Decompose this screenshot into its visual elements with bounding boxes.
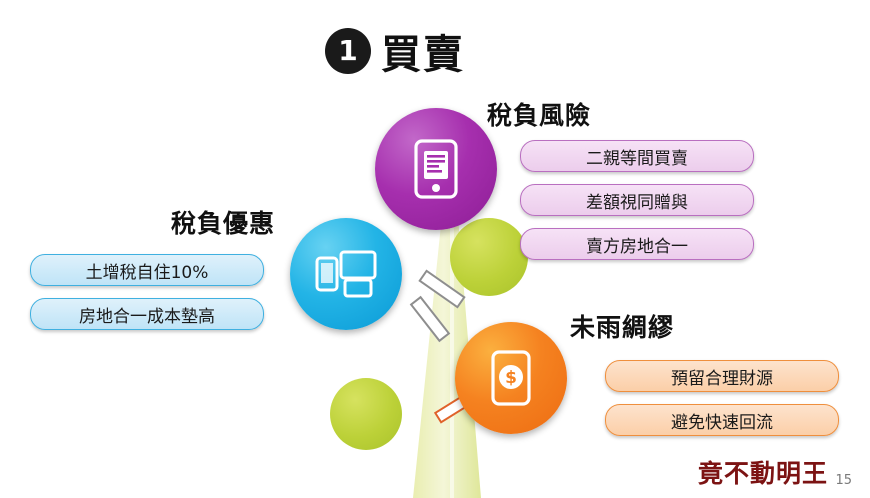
pill-risk-2[interactable]: 差額視同贈與 <box>520 184 754 216</box>
node-benefit[interactable] <box>290 218 402 330</box>
node-risk[interactable] <box>375 108 497 230</box>
pill-risk-3[interactable]: 賣方房地合一 <box>520 228 754 260</box>
svg-text:$: $ <box>505 368 517 388</box>
node-plan[interactable]: $ <box>455 322 567 434</box>
slide-title-block: 1 買賣 <box>325 22 465 80</box>
pill-risk-1[interactable]: 二親等間買賣 <box>520 140 754 172</box>
pill-plan-2[interactable]: 避免快速回流 <box>605 404 839 436</box>
pill-benefit-1[interactable]: 土增稅自住10% <box>30 254 264 286</box>
step-number-badge: 1 <box>325 28 371 74</box>
heading-plan: 未雨綢繆 <box>570 308 674 344</box>
mobile-money-icon: $ <box>490 350 532 406</box>
pill-benefit-2[interactable]: 房地合一成本墊高 <box>30 298 264 330</box>
page-title: 買賣 <box>381 22 465 80</box>
devices-icon <box>315 250 377 298</box>
page-number: 15 <box>835 473 852 488</box>
brand-logo: 竟不動明王 <box>698 454 828 490</box>
heading-benefit: 稅負優惠 <box>171 204 275 240</box>
leaf-shape <box>330 378 402 450</box>
slide-canvas: 1 買賣 <box>0 0 870 498</box>
document-mobile-icon <box>413 139 459 199</box>
heading-risk: 稅負風險 <box>487 96 591 132</box>
leaf-shape <box>450 218 528 296</box>
pill-plan-1[interactable]: 預留合理財源 <box>605 360 839 392</box>
